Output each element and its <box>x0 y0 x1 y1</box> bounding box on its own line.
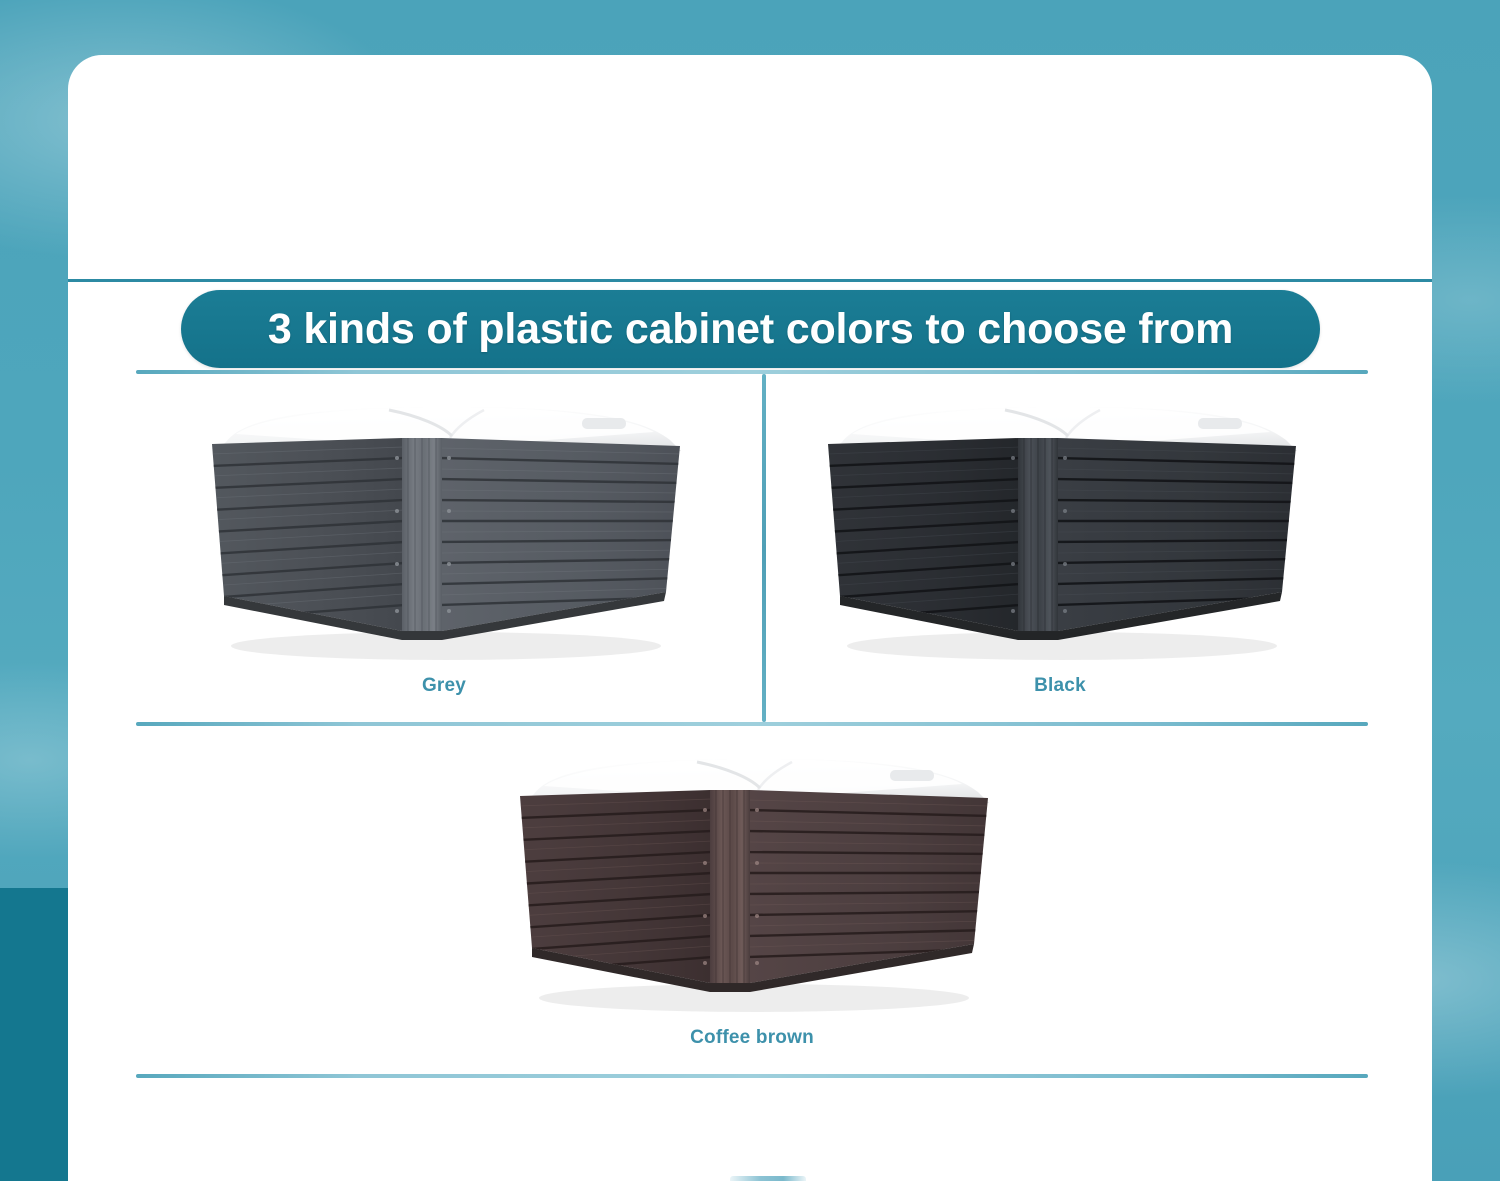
title-banner: 3 kinds of plastic cabinet colors to cho… <box>68 235 1432 325</box>
content-card: 3 kinds of plastic cabinet colors to cho… <box>68 55 1432 1181</box>
title-pill: 3 kinds of plastic cabinet colors to cho… <box>181 290 1320 368</box>
swatch-row-1: Grey <box>136 374 1368 722</box>
hot-tub-icon-black <box>800 396 1320 671</box>
color-swatch-grid: Grey <box>136 370 1368 1078</box>
swatch-row-2: Coffee brown <box>136 726 1368 1074</box>
page-title: 3 kinds of plastic cabinet colors to cho… <box>268 305 1233 354</box>
background-band-left <box>0 888 70 1181</box>
swatch-label-black: Black <box>1034 675 1086 697</box>
swatch-label-coffee-brown: Coffee brown <box>690 1027 814 1049</box>
hot-tub-image-coffee-brown <box>492 748 1012 1023</box>
swatch-black[interactable]: Black <box>752 374 1368 722</box>
hot-tub-image-black <box>800 396 1320 671</box>
hot-tub-icon-coffee-brown <box>492 748 1012 1023</box>
swatch-grey[interactable]: Grey <box>136 374 752 722</box>
title-rule <box>68 279 1432 282</box>
grid-divider-bottom <box>136 1074 1368 1078</box>
swatch-coffee-brown[interactable]: Coffee brown <box>444 726 1060 1074</box>
hot-tub-icon-grey <box>184 396 704 671</box>
page-root: 3 kinds of plastic cabinet colors to cho… <box>0 0 1500 1181</box>
next-section-peek <box>730 1176 806 1181</box>
swatch-label-grey: Grey <box>422 675 466 697</box>
hot-tub-image-grey <box>184 396 704 671</box>
